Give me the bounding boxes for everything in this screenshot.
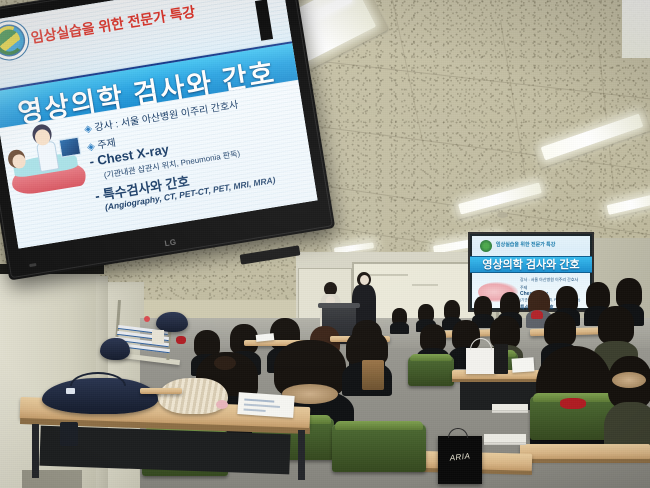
- tv-brand-logo: LG: [164, 237, 177, 248]
- ceiling-speaker: [497, 212, 508, 218]
- desk-leg: [298, 430, 305, 480]
- paper-stack: [492, 404, 528, 410]
- student: [608, 356, 650, 456]
- handout: [512, 357, 535, 373]
- desk: [520, 444, 650, 460]
- brown-bag: [362, 360, 384, 390]
- diamond-bullet-icon: ◈: [84, 124, 93, 136]
- red-object: [144, 316, 150, 322]
- chair-top-rail: [335, 421, 423, 430]
- handout-line: [244, 403, 280, 407]
- illustration-xray-film: [59, 136, 81, 157]
- student-hair: [230, 324, 258, 354]
- black-shopping-bag: ARIA: [438, 436, 482, 484]
- shopping-bag-brand: ARIA: [449, 452, 470, 463]
- desk-leg: [32, 424, 39, 478]
- red-object: [176, 336, 186, 344]
- fur-hood-trim: [612, 372, 646, 388]
- floor-baseboard: [22, 470, 82, 488]
- chair: [332, 424, 426, 472]
- projected-seal-icon: [480, 240, 492, 252]
- dark-bottle: [494, 344, 508, 374]
- handout: [237, 392, 294, 418]
- small-bag: [60, 422, 78, 446]
- desk: [140, 388, 182, 394]
- sweater-accent: [216, 400, 228, 409]
- projected-subtitle: 임상실습을 위한 전문가 특강: [496, 241, 555, 248]
- student-hair: [420, 324, 446, 351]
- projected-bullet: 강사 : 서울 아산병원 이주리 간호사: [520, 277, 578, 283]
- paper-card: [152, 330, 164, 344]
- backpack-tag: [66, 388, 75, 394]
- handout-line: [244, 408, 266, 411]
- red-scarf: [560, 398, 586, 409]
- projected-title-band: 영상의학 검사와 간호: [470, 256, 592, 273]
- cream-knit-sweater: [158, 378, 228, 414]
- window-glare: [622, 0, 650, 58]
- speaker-face: [360, 275, 369, 285]
- handout-line: [244, 398, 274, 402]
- paper-stack: [484, 434, 526, 442]
- whiteboard-mark: [412, 284, 438, 286]
- projected-title: 영상의학 검사와 간호: [470, 257, 592, 274]
- diamond-bullet-icon: ◈: [86, 141, 95, 153]
- radiology-illustration: [4, 122, 88, 199]
- hair-bun: [214, 356, 236, 370]
- hanging-bag: [100, 338, 130, 360]
- desk-edge: [520, 459, 650, 463]
- seal-emblem: [0, 28, 22, 53]
- lecture-hall-photo: 임상실습을 위한 전문가 특강 영상의학 검사와 간호 강사 : 서울 아산병원…: [0, 0, 650, 488]
- student-hair: [544, 312, 576, 346]
- lectern-top: [318, 303, 360, 308]
- red-beanie: [531, 310, 543, 319]
- chair: [408, 356, 454, 386]
- student-body: [390, 322, 409, 334]
- student: [392, 308, 407, 332]
- shelf-bag: [156, 312, 188, 332]
- white-tote-bag: [466, 348, 496, 374]
- chair-top-rail: [410, 354, 452, 361]
- student-hair: [598, 306, 634, 344]
